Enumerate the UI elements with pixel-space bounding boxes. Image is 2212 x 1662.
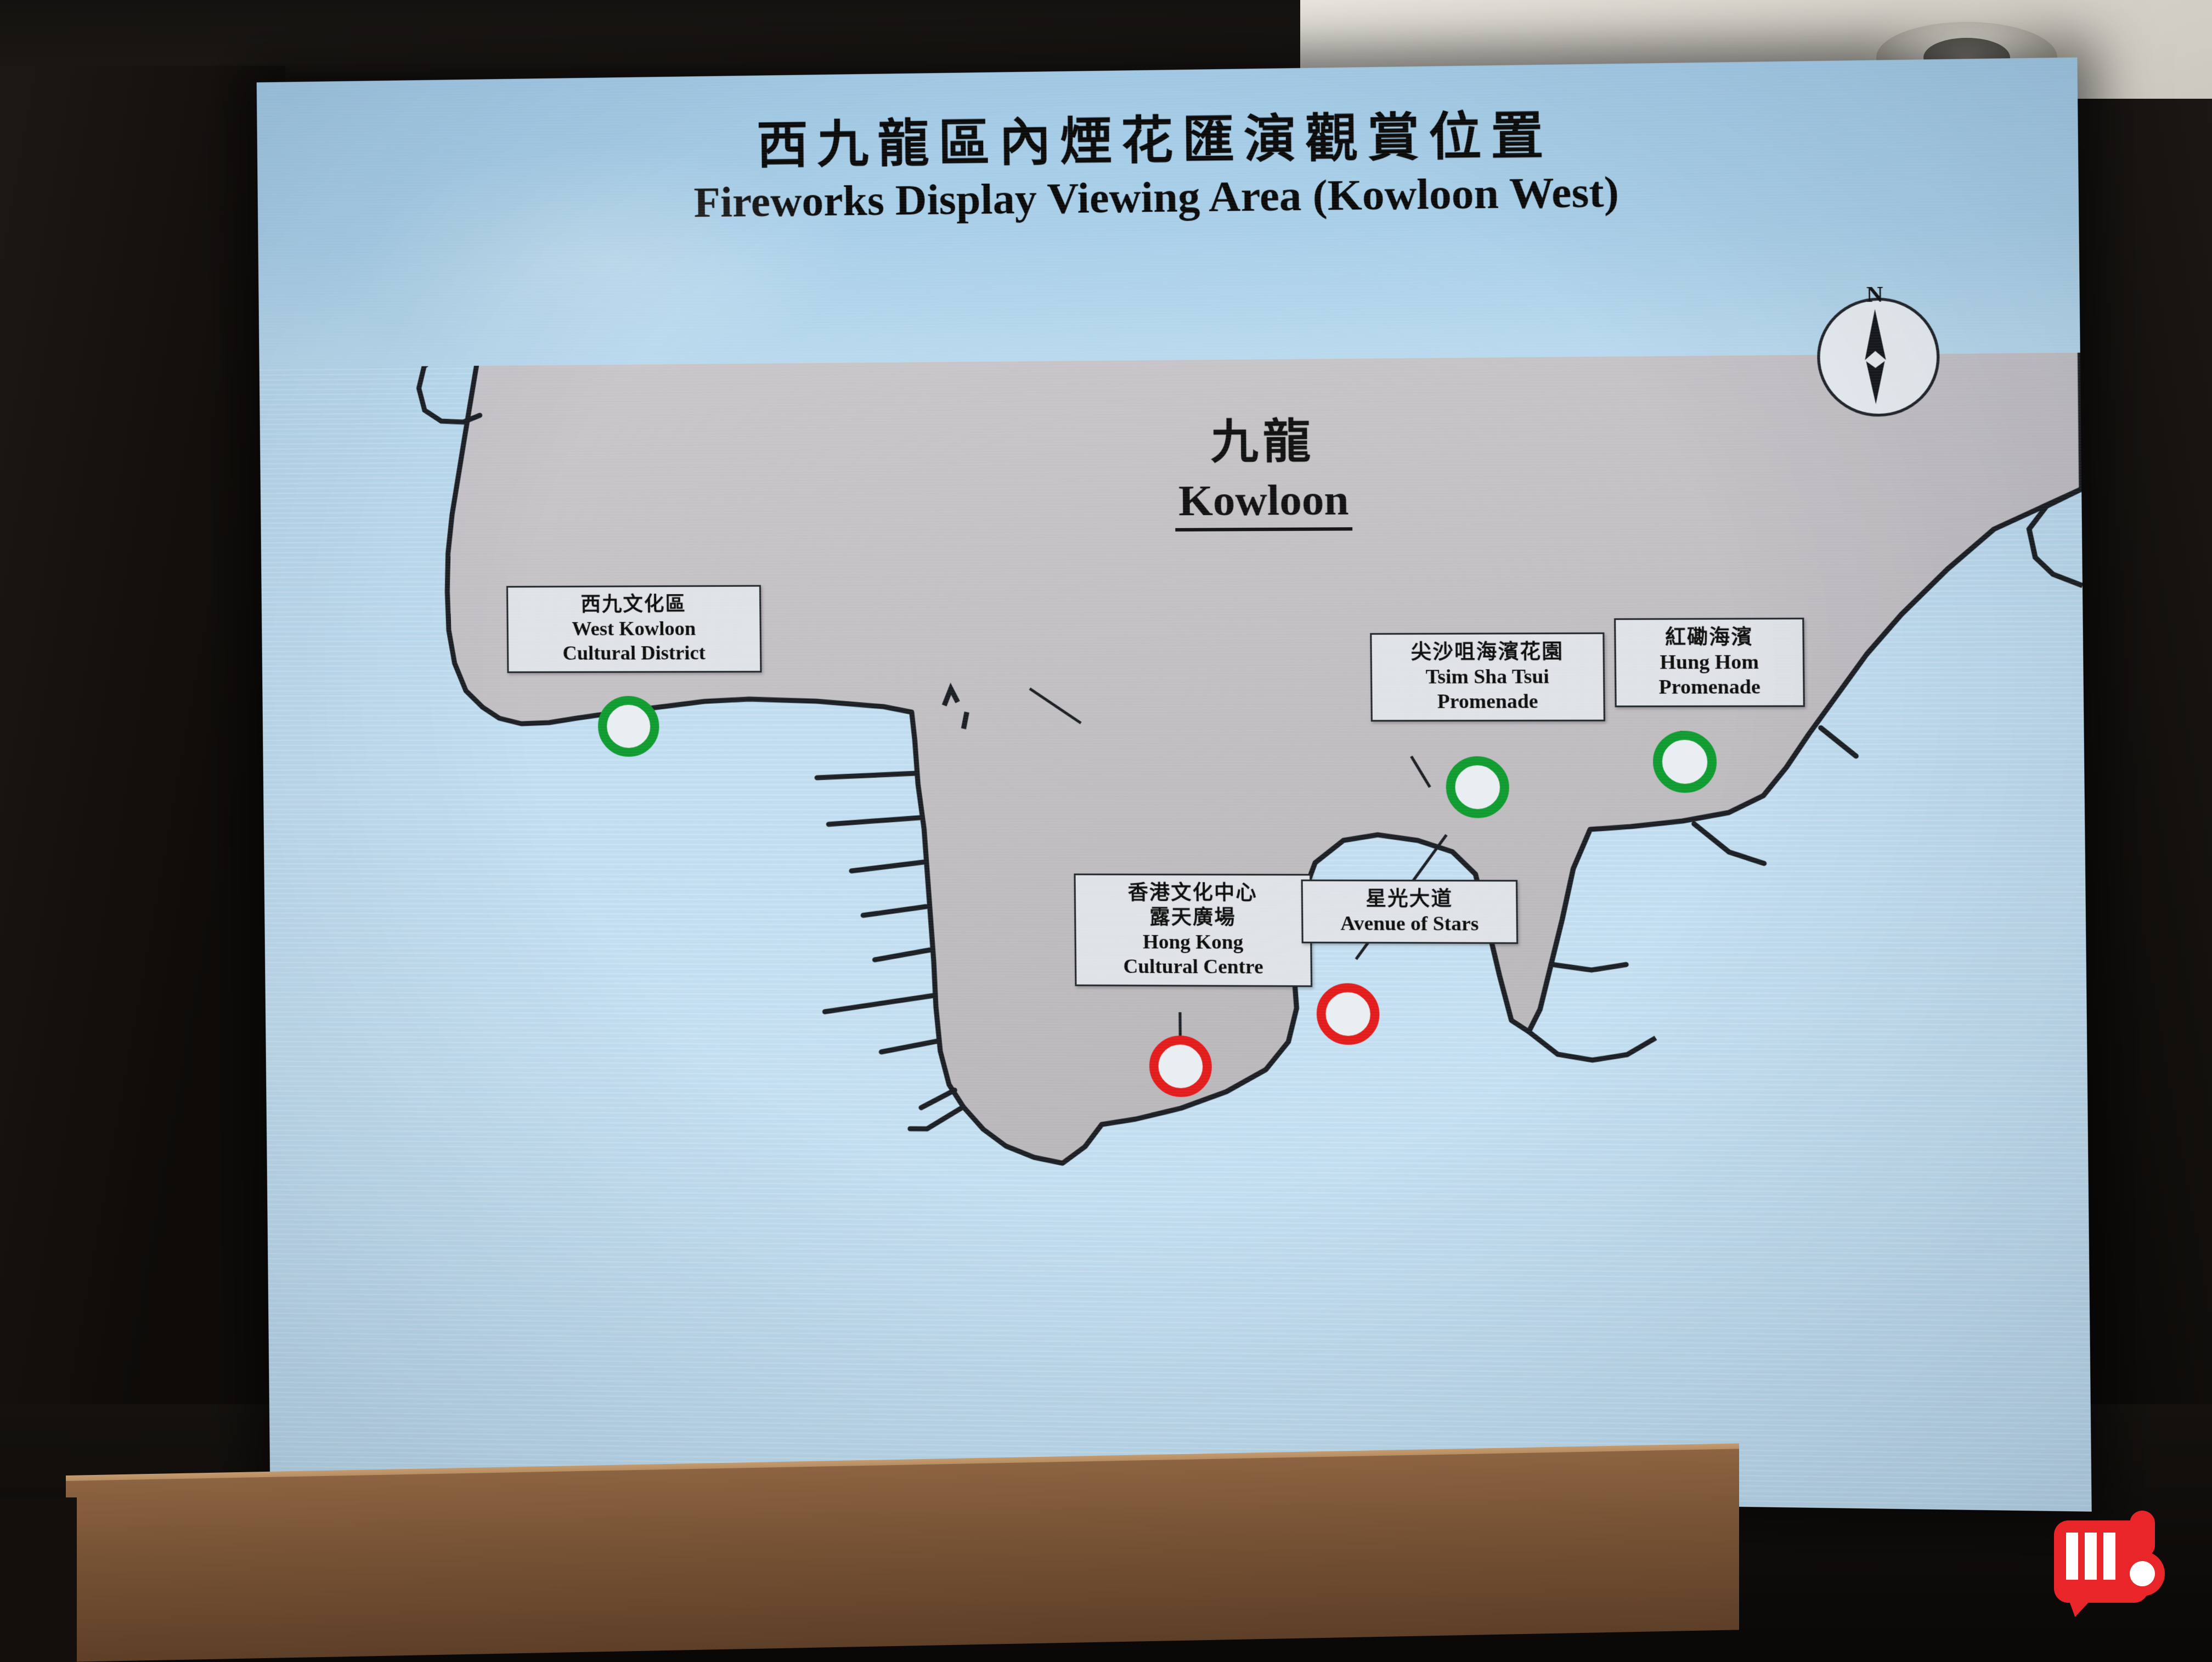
callout-english-line1: Hung Hom (1626, 650, 1794, 675)
desk-left-shadow (0, 1497, 77, 1662)
desk-surface (66, 1449, 1739, 1662)
marker-hong-kong-cultural-centre[interactable] (1149, 1036, 1212, 1098)
callout-english-line1: Avenue of Stars (1312, 912, 1507, 937)
marker-avenue-of-stars[interactable] (1316, 983, 1380, 1045)
callout-chinese-line2: 露天廣場 (1085, 905, 1301, 930)
callout-chinese: 西九文化區 (517, 592, 751, 618)
microphone-inner (2130, 1561, 2155, 1586)
marker-hung-hom-promenade[interactable] (1652, 731, 1717, 793)
callout-tsim-sha-tsui-promenade[interactable]: 尖沙咀海濱花園 Tsim Sha Tsui Promenade (1370, 632, 1605, 721)
marker-tsim-sha-tsui-promenade[interactable] (1446, 756, 1509, 818)
callout-chinese: 紅磡海濱 (1625, 625, 1793, 651)
wall-left (0, 66, 285, 1492)
callout-chinese-line1: 香港文化中心 (1085, 881, 1301, 906)
callout-english-line1: West Kowloon (517, 617, 751, 642)
callout-english-line1: Hong Kong (1085, 930, 1301, 955)
callout-chinese: 星光大道 (1312, 887, 1506, 912)
projection-screen: 西九龍區內煙花匯演觀賞位置 Fireworks Display Viewing … (257, 58, 2092, 1512)
callout-english-line1: Tsim Sha Tsui (1381, 664, 1594, 689)
callout-english-line2: Cultural District (517, 641, 751, 665)
callout-english-line2: Cultural Centre (1085, 954, 1301, 980)
microphone-icon (2117, 1511, 2167, 1615)
marker-west-kowloon-cultural-district[interactable] (598, 696, 659, 757)
room-background: 西九龍區內煙花匯演觀賞位置 Fireworks Display Viewing … (0, 0, 2212, 1659)
callout-english-line2: Promenade (1626, 675, 1794, 700)
callout-west-kowloon-cultural-district[interactable]: 西九文化區 West Kowloon Cultural District (506, 585, 762, 673)
callout-hung-hom-promenade[interactable]: 紅磡海濱 Hung Hom Promenade (1614, 618, 1805, 707)
callout-chinese: 尖沙咀海濱花園 (1381, 640, 1594, 665)
callout-avenue-of-stars[interactable]: 星光大道 Avenue of Stars (1301, 879, 1519, 943)
map-slide: 西九龍區內煙花匯演觀賞位置 Fireworks Display Viewing … (257, 58, 2092, 1512)
callout-hong-kong-cultural-centre[interactable]: 香港文化中心 露天廣場 Hong Kong Cultural Centre (1074, 874, 1312, 987)
leader-lines (257, 58, 2092, 1512)
callout-english-line2: Promenade (1381, 689, 1594, 714)
broadcaster-watermark-logo (2054, 1511, 2169, 1626)
